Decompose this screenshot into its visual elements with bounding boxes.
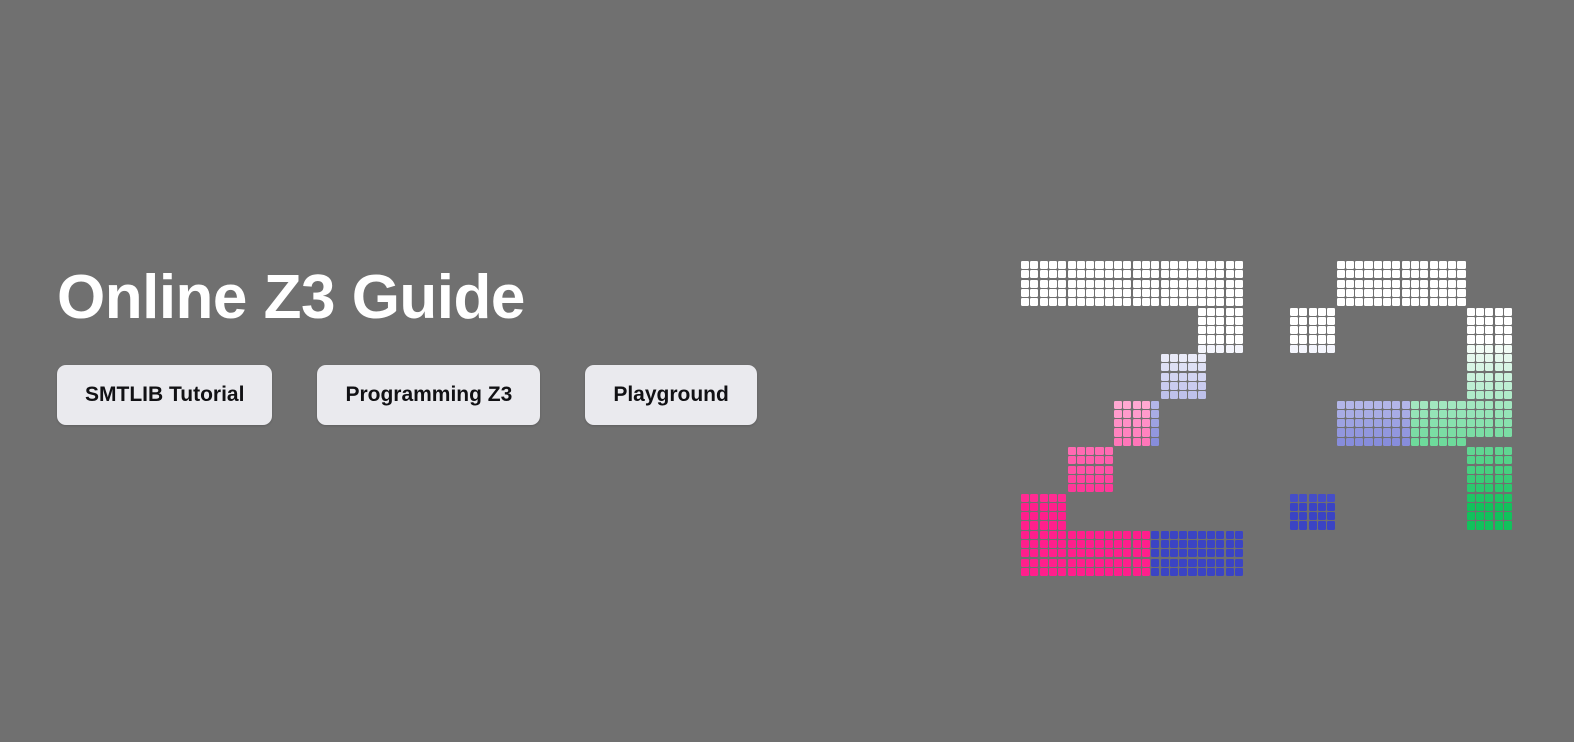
logo-pixel xyxy=(1402,559,1410,567)
logo-pixel xyxy=(1123,419,1131,427)
logo-pixel xyxy=(1133,568,1141,576)
logo-pixel xyxy=(1235,317,1243,325)
logo-pixel xyxy=(1198,382,1206,390)
logo-pixel xyxy=(1114,419,1122,427)
logo-pixel xyxy=(1467,456,1475,464)
logo-pixel xyxy=(1216,289,1224,297)
logo-pixel xyxy=(1420,428,1428,436)
logo-pixel xyxy=(1420,280,1428,288)
logo-pixel xyxy=(1392,559,1400,567)
logo-pixel xyxy=(1207,345,1215,353)
logo-pixel xyxy=(1142,531,1150,539)
logo-pixel xyxy=(1086,456,1094,464)
logo-pixel xyxy=(1411,298,1419,306)
logo-pixel xyxy=(1216,317,1224,325)
logo-pixel xyxy=(1420,531,1428,539)
logo-pixel xyxy=(1021,549,1029,557)
logo-pixel xyxy=(1485,540,1493,548)
logo-pixel xyxy=(1495,540,1503,548)
logo-pixel xyxy=(1133,419,1141,427)
logo-pixel xyxy=(1476,419,1484,427)
logo-pixel xyxy=(1040,521,1048,529)
logo-pixel xyxy=(1058,540,1066,548)
logo-pixel xyxy=(1068,540,1076,548)
logo-pixel xyxy=(1151,428,1159,436)
logo-pixel xyxy=(1476,494,1484,502)
programming-z3-button[interactable]: Programming Z3 xyxy=(317,365,540,425)
logo-pixel xyxy=(1402,401,1410,409)
logo-pixel xyxy=(1495,345,1503,353)
logo-pixel xyxy=(1476,531,1484,539)
logo-pixel xyxy=(1226,345,1234,353)
logo-pixel xyxy=(1207,308,1215,316)
logo-pixel xyxy=(1402,419,1410,427)
logo-pixel xyxy=(1235,568,1243,576)
z3-pixel-logo xyxy=(1021,261,1521,586)
logo-pixel xyxy=(1077,261,1085,269)
logo-pixel xyxy=(1411,401,1419,409)
logo-pixel xyxy=(1226,317,1234,325)
logo-pixel xyxy=(1355,559,1363,567)
logo-pixel xyxy=(1077,475,1085,483)
logo-pixel xyxy=(1226,289,1234,297)
logo-pixel xyxy=(1467,326,1475,334)
logo-pixel xyxy=(1318,503,1326,511)
logo-pixel xyxy=(1383,298,1391,306)
logo-pixel xyxy=(1226,298,1234,306)
logo-pixel xyxy=(1355,568,1363,576)
logo-pixel xyxy=(1485,345,1493,353)
logo-pixel xyxy=(1504,373,1512,381)
logo-pixel xyxy=(1030,503,1038,511)
logo-pixel xyxy=(1467,568,1475,576)
logo-pixel xyxy=(1346,428,1354,436)
logo-pixel xyxy=(1030,289,1038,297)
logo-pixel xyxy=(1430,401,1438,409)
logo-pixel xyxy=(1207,549,1215,557)
logo-pixel xyxy=(1476,503,1484,511)
logo-pixel xyxy=(1170,261,1178,269)
logo-pixel xyxy=(1467,363,1475,371)
logo-pixel xyxy=(1346,568,1354,576)
logo-pixel xyxy=(1170,559,1178,567)
logo-pixel xyxy=(1226,280,1234,288)
logo-pixel xyxy=(1179,531,1187,539)
logo-pixel xyxy=(1040,503,1048,511)
logo-pixel xyxy=(1077,447,1085,455)
logo-pixel xyxy=(1495,559,1503,567)
logo-pixel xyxy=(1392,401,1400,409)
logo-pixel xyxy=(1188,363,1196,371)
logo-pixel xyxy=(1318,335,1326,343)
logo-pixel xyxy=(1495,503,1503,511)
logo-pixel xyxy=(1058,503,1066,511)
logo-pixel xyxy=(1105,540,1113,548)
logo-pixel xyxy=(1170,280,1178,288)
logo-pixel xyxy=(1058,261,1066,269)
logo-pixel xyxy=(1290,326,1298,334)
logo-pixel xyxy=(1309,503,1317,511)
logo-pixel xyxy=(1216,549,1224,557)
logo-pixel xyxy=(1161,373,1169,381)
logo-pixel xyxy=(1105,289,1113,297)
logo-pixel xyxy=(1504,326,1512,334)
logo-pixel xyxy=(1077,549,1085,557)
logo-pixel xyxy=(1142,289,1150,297)
logo-pixel xyxy=(1235,270,1243,278)
logo-pixel xyxy=(1485,373,1493,381)
logo-pixel xyxy=(1457,401,1465,409)
logo-pixel xyxy=(1355,549,1363,557)
logo-pixel xyxy=(1411,261,1419,269)
logo-pixel xyxy=(1105,549,1113,557)
logo-pixel xyxy=(1439,438,1447,446)
logo-pixel xyxy=(1485,428,1493,436)
logo-pixel xyxy=(1392,568,1400,576)
logo-pixel xyxy=(1105,298,1113,306)
logo-pixel xyxy=(1355,410,1363,418)
logo-pixel xyxy=(1495,391,1503,399)
logo-pixel xyxy=(1161,363,1169,371)
logo-pixel xyxy=(1495,326,1503,334)
logo-pixel xyxy=(1467,410,1475,418)
logo-pixel xyxy=(1133,298,1141,306)
logo-pixel xyxy=(1485,335,1493,343)
logo-pixel xyxy=(1476,326,1484,334)
logo-pixel xyxy=(1216,270,1224,278)
logo-pixel xyxy=(1457,438,1465,446)
logo-pixel xyxy=(1430,419,1438,427)
logo-pixel xyxy=(1383,261,1391,269)
smtlib-tutorial-button[interactable]: SMTLIB Tutorial xyxy=(57,365,272,425)
logo-pixel xyxy=(1476,410,1484,418)
logo-pixel xyxy=(1086,261,1094,269)
logo-pixel xyxy=(1495,568,1503,576)
logo-pixel xyxy=(1040,540,1048,548)
logo-pixel xyxy=(1030,549,1038,557)
logo-pixel xyxy=(1476,568,1484,576)
logo-pixel xyxy=(1235,531,1243,539)
logo-pixel xyxy=(1021,559,1029,567)
logo-pixel xyxy=(1058,531,1066,539)
logo-pixel xyxy=(1290,531,1298,539)
logo-pixel xyxy=(1114,568,1122,576)
logo-pixel xyxy=(1077,456,1085,464)
logo-pixel xyxy=(1040,298,1048,306)
logo-pixel xyxy=(1188,354,1196,362)
logo-pixel xyxy=(1207,289,1215,297)
logo-pixel xyxy=(1207,261,1215,269)
logo-pixel xyxy=(1040,280,1048,288)
logo-pixel xyxy=(1290,512,1298,520)
logo-pixel xyxy=(1420,568,1428,576)
logo-pixel xyxy=(1411,419,1419,427)
logo-pixel xyxy=(1495,531,1503,539)
logo-pixel xyxy=(1207,531,1215,539)
logo-pixel xyxy=(1095,280,1103,288)
logo-pixel xyxy=(1402,540,1410,548)
logo-pixel xyxy=(1374,280,1382,288)
logo-pixel xyxy=(1439,531,1447,539)
logo-pixel xyxy=(1392,531,1400,539)
logo-pixel xyxy=(1485,531,1493,539)
logo-pixel xyxy=(1142,270,1150,278)
hero-text-block: Online Z3 Guide xyxy=(57,262,957,334)
logo-pixel xyxy=(1049,549,1057,557)
logo-pixel xyxy=(1504,456,1512,464)
logo-pixel xyxy=(1448,298,1456,306)
logo-pixel xyxy=(1485,503,1493,511)
logo-pixel xyxy=(1216,280,1224,288)
logo-pixel xyxy=(1142,410,1150,418)
logo-pixel xyxy=(1114,261,1122,269)
logo-pixel xyxy=(1476,521,1484,529)
logo-pixel xyxy=(1355,438,1363,446)
logo-pixel xyxy=(1383,438,1391,446)
logo-pixel xyxy=(1068,568,1076,576)
logo-pixel xyxy=(1364,401,1372,409)
logo-pixel xyxy=(1095,559,1103,567)
logo-pixel xyxy=(1374,559,1382,567)
logo-pixel xyxy=(1476,401,1484,409)
logo-pixel xyxy=(1346,270,1354,278)
logo-pixel xyxy=(1021,494,1029,502)
logo-pixel xyxy=(1299,512,1307,520)
logo-pixel xyxy=(1040,549,1048,557)
logo-pixel xyxy=(1235,326,1243,334)
logo-pixel xyxy=(1133,540,1141,548)
logo-pixel xyxy=(1049,289,1057,297)
logo-pixel xyxy=(1495,456,1503,464)
logo-pixel xyxy=(1077,466,1085,474)
logo-pixel xyxy=(1188,382,1196,390)
logo-pixel xyxy=(1142,568,1150,576)
logo-pixel xyxy=(1430,298,1438,306)
logo-pixel xyxy=(1105,447,1113,455)
logo-pixel xyxy=(1170,363,1178,371)
logo-pixel xyxy=(1309,521,1317,529)
logo-pixel xyxy=(1430,559,1438,567)
logo-pixel xyxy=(1198,540,1206,548)
logo-pixel xyxy=(1327,531,1335,539)
logo-pixel xyxy=(1337,540,1345,548)
logo-pixel xyxy=(1086,549,1094,557)
logo-pixel xyxy=(1495,308,1503,316)
page-title: Online Z3 Guide xyxy=(57,262,957,334)
logo-pixel xyxy=(1235,261,1243,269)
logo-pixel xyxy=(1198,549,1206,557)
logo-pixel xyxy=(1457,270,1465,278)
logo-pixel xyxy=(1114,549,1122,557)
logo-pixel xyxy=(1086,289,1094,297)
logo-pixel xyxy=(1021,540,1029,548)
logo-pixel xyxy=(1485,568,1493,576)
logo-pixel xyxy=(1226,559,1234,567)
logo-pixel xyxy=(1151,270,1159,278)
logo-pixel xyxy=(1077,289,1085,297)
logo-pixel xyxy=(1207,559,1215,567)
logo-pixel xyxy=(1105,261,1113,269)
logo-pixel xyxy=(1327,345,1335,353)
logo-pixel xyxy=(1420,261,1428,269)
logo-pixel xyxy=(1495,447,1503,455)
logo-pixel xyxy=(1364,531,1372,539)
logo-pixel xyxy=(1476,335,1484,343)
logo-pixel xyxy=(1374,261,1382,269)
logo-pixel xyxy=(1077,568,1085,576)
logo-pixel xyxy=(1216,540,1224,548)
logo-pixel xyxy=(1198,308,1206,316)
logo-pixel xyxy=(1198,568,1206,576)
logo-pixel xyxy=(1235,549,1243,557)
logo-pixel xyxy=(1476,317,1484,325)
logo-pixel xyxy=(1086,531,1094,539)
playground-button[interactable]: Playground xyxy=(585,365,757,425)
logo-pixel xyxy=(1049,503,1057,511)
logo-pixel xyxy=(1077,559,1085,567)
logo-pixel xyxy=(1170,568,1178,576)
logo-pixel xyxy=(1049,261,1057,269)
logo-pixel xyxy=(1476,559,1484,567)
logo-pixel xyxy=(1495,521,1503,529)
logo-pixel xyxy=(1216,298,1224,306)
logo-pixel xyxy=(1485,354,1493,362)
logo-pixel xyxy=(1504,549,1512,557)
logo-pixel xyxy=(1216,568,1224,576)
logo-pixel xyxy=(1151,410,1159,418)
logo-pixel xyxy=(1086,540,1094,548)
logo-pixel xyxy=(1346,289,1354,297)
logo-pixel xyxy=(1216,559,1224,567)
logo-pixel xyxy=(1476,428,1484,436)
logo-pixel xyxy=(1095,466,1103,474)
logo-pixel xyxy=(1077,484,1085,492)
logo-pixel xyxy=(1198,373,1206,381)
logo-pixel xyxy=(1467,428,1475,436)
logo-pixel xyxy=(1086,559,1094,567)
logo-pixel xyxy=(1504,521,1512,529)
logo-pixel xyxy=(1374,531,1382,539)
logo-pixel xyxy=(1495,335,1503,343)
logo-pixel xyxy=(1068,475,1076,483)
logo-pixel xyxy=(1476,363,1484,371)
logo-pixel xyxy=(1290,335,1298,343)
logo-pixel xyxy=(1457,289,1465,297)
logo-pixel xyxy=(1086,298,1094,306)
logo-pixel xyxy=(1235,540,1243,548)
logo-pixel xyxy=(1030,559,1038,567)
logo-pixel xyxy=(1179,549,1187,557)
logo-pixel xyxy=(1392,428,1400,436)
logo-pixel xyxy=(1383,419,1391,427)
logo-pixel xyxy=(1058,494,1066,502)
logo-pixel xyxy=(1040,270,1048,278)
logo-pixel xyxy=(1457,419,1465,427)
logo-pixel xyxy=(1198,298,1206,306)
logo-pixel xyxy=(1235,308,1243,316)
logo-pixel xyxy=(1105,280,1113,288)
logo-pixel xyxy=(1207,317,1215,325)
cta-button-row: SMTLIB Tutorial Programming Z3 Playgroun… xyxy=(57,365,757,425)
logo-pixel xyxy=(1021,280,1029,288)
logo-pixel xyxy=(1170,549,1178,557)
logo-pixel xyxy=(1495,512,1503,520)
logo-pixel xyxy=(1439,298,1447,306)
logo-pixel xyxy=(1216,326,1224,334)
logo-pixel xyxy=(1337,298,1345,306)
logo-pixel xyxy=(1467,345,1475,353)
logo-pixel xyxy=(1392,438,1400,446)
logo-pixel xyxy=(1485,391,1493,399)
logo-pixel xyxy=(1114,401,1122,409)
logo-pixel xyxy=(1495,484,1503,492)
logo-pixel xyxy=(1142,540,1150,548)
logo-pixel xyxy=(1467,494,1475,502)
logo-pixel xyxy=(1430,410,1438,418)
logo-pixel xyxy=(1123,428,1131,436)
logo-pixel xyxy=(1457,428,1465,436)
logo-pixel xyxy=(1467,335,1475,343)
logo-pixel xyxy=(1495,549,1503,557)
logo-pixel xyxy=(1299,335,1307,343)
logo-pixel xyxy=(1457,531,1465,539)
logo-pixel xyxy=(1068,456,1076,464)
logo-pixel xyxy=(1374,438,1382,446)
logo-pixel xyxy=(1430,531,1438,539)
logo-pixel xyxy=(1457,261,1465,269)
logo-pixel xyxy=(1467,382,1475,390)
logo-pixel xyxy=(1058,280,1066,288)
logo-pixel xyxy=(1151,549,1159,557)
logo-pixel xyxy=(1495,373,1503,381)
hero-section: Online Z3 Guide SMTLIB Tutorial Programm… xyxy=(0,0,1574,742)
logo-pixel xyxy=(1142,428,1150,436)
logo-pixel xyxy=(1151,298,1159,306)
logo-pixel xyxy=(1095,270,1103,278)
logo-pixel xyxy=(1318,308,1326,316)
logo-pixel xyxy=(1355,261,1363,269)
logo-pixel xyxy=(1383,531,1391,539)
logo-pixel xyxy=(1030,568,1038,576)
logo-pixel xyxy=(1198,345,1206,353)
logo-pixel xyxy=(1402,280,1410,288)
logo-pixel xyxy=(1188,270,1196,278)
logo-pixel xyxy=(1299,521,1307,529)
logo-pixel xyxy=(1133,438,1141,446)
logo-pixel xyxy=(1346,540,1354,548)
logo-pixel xyxy=(1188,531,1196,539)
logo-pixel xyxy=(1346,410,1354,418)
logo-pixel xyxy=(1133,531,1141,539)
logo-pixel xyxy=(1383,280,1391,288)
logo-pixel xyxy=(1504,531,1512,539)
logo-pixel xyxy=(1179,363,1187,371)
logo-pixel xyxy=(1495,475,1503,483)
logo-pixel xyxy=(1485,559,1493,567)
logo-pixel xyxy=(1299,317,1307,325)
logo-pixel xyxy=(1198,280,1206,288)
logo-pixel xyxy=(1309,308,1317,316)
logo-pixel xyxy=(1179,373,1187,381)
logo-pixel xyxy=(1467,354,1475,362)
logo-pixel xyxy=(1235,345,1243,353)
logo-pixel xyxy=(1485,521,1493,529)
logo-pixel xyxy=(1151,531,1159,539)
logo-pixel xyxy=(1337,549,1345,557)
logo-pixel xyxy=(1467,540,1475,548)
logo-pixel xyxy=(1476,540,1484,548)
logo-pixel xyxy=(1049,559,1057,567)
